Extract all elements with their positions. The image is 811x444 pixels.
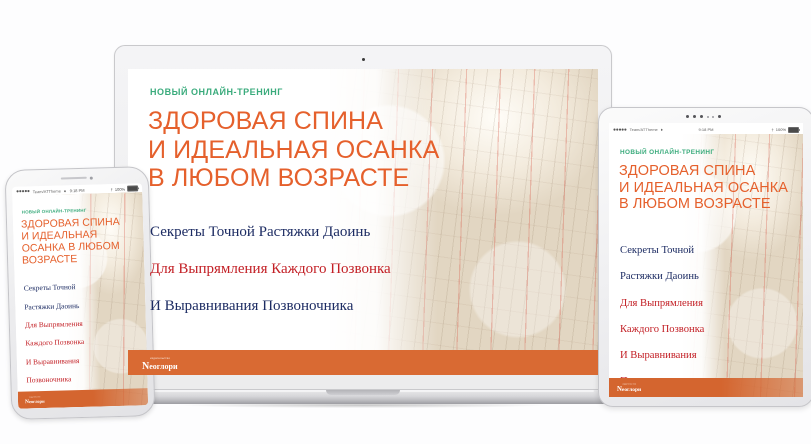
subtitle-line-5: И Выравнивания	[26, 355, 85, 366]
promo-headline-phone: ЗДОРОВАЯ СПИНА И ИДЕАЛЬНАЯ ОСАНКА В ЛЮБО…	[21, 217, 121, 268]
subtitle-line-4: Каждого Позвонка	[620, 323, 704, 336]
phone-camera-icon	[90, 176, 93, 179]
subtitle-line-6: Позвоночника	[26, 374, 85, 385]
tablet-speaker	[686, 115, 721, 118]
subtitle-line-2: Растяжки Даоинь	[620, 270, 704, 283]
status-time: 9:18 PM	[609, 127, 803, 132]
promo-headline-tablet: ЗДОРОВАЯ СПИНА И ИДЕАЛЬНАЯ ОСАНКА В ЛЮБО…	[619, 163, 788, 213]
logo-publisher-label: издательство	[150, 356, 170, 360]
laptop-mockup: НОВЫЙ ОНЛАЙН-ТРЕНИНГ ЗДОРОВАЯ СПИНА И ИД…	[108, 45, 618, 438]
neoglory-logo-tablet: издательство Nеоглори	[617, 383, 641, 394]
tablet-mockup: ●●●●● Team/ATTheme ♦ 9:18 PM † 100% НОВЫ…	[598, 107, 811, 407]
device-mockup-stage: НОВЫЙ ОНЛАЙН-ТРЕНИНГ ЗДОРОВАЯ СПИНА И ИД…	[0, 0, 811, 444]
subtitle-line-3: Для Выпрямления	[25, 319, 84, 330]
phone-speaker	[61, 177, 87, 180]
promo-eyebrow-laptop: НОВЫЙ ОНЛАЙН-ТРЕНИНГ	[150, 87, 283, 97]
laptop-screen: НОВЫЙ ОНЛАЙН-ТРЕНИНГ ЗДОРОВАЯ СПИНА И ИД…	[128, 69, 598, 375]
neoglory-logo-phone: издательство Nеоглори	[25, 396, 45, 405]
laptop-lid: НОВЫЙ ОНЛАЙН-ТРЕНИНГ ЗДОРОВАЯ СПИНА И ИД…	[114, 45, 612, 390]
laptop-base-notch	[326, 390, 400, 395]
subtitle-line-1: Секреты Точной	[24, 282, 83, 293]
promo-subtitle-tablet: Секреты Точной Растяжки Даоинь Для Выпря…	[620, 231, 704, 397]
subtitle-line-3: Для Выпрямления	[620, 297, 704, 310]
promo-footer-bar-laptop: издательство Nеоглори	[128, 350, 598, 375]
promo-footer-bar-phone: издательство Nеоглори	[18, 388, 148, 409]
subtitle-line-2: Растяжки Даоинь	[24, 300, 83, 311]
promo-page-laptop: НОВЫЙ ОНЛАЙН-ТРЕНИНГ ЗДОРОВАЯ СПИНА И ИД…	[128, 69, 598, 375]
battery-icon	[788, 127, 799, 133]
subtitle-line-1: Секреты Точной	[620, 244, 704, 257]
promo-headline-laptop: ЗДОРОВАЯ СПИНА И ИДЕАЛЬНАЯ ОСАНКА В ЛЮБО…	[148, 107, 439, 193]
phone-body: ●●●●● Team/ATTheme ♦ 9:18 PM † 100% НОВЫ…	[5, 166, 156, 420]
subtitle-line-2: Для Выпрямления Каждого Позвонка	[150, 260, 391, 279]
neoglory-logo-laptop: издательство Nеоглори	[142, 357, 178, 373]
logo-publisher-label: издательство	[29, 396, 40, 399]
laptop-base	[108, 390, 618, 404]
promo-subtitle-phone: Секреты Точной Растяжки Даоинь Для Выпря…	[23, 273, 85, 394]
subtitle-line-4: Каждого Позвонка	[25, 337, 84, 348]
subtitle-line-5: И Выравнивания	[620, 349, 704, 362]
promo-footer-bar-tablet: издательство Nеоглори	[609, 378, 803, 397]
phone-mockup: ●●●●● Team/ATTheme ♦ 9:18 PM † 100% НОВЫ…	[8, 168, 152, 418]
subtitle-line-1: Секреты Точной Растяжки Даоинь	[150, 223, 391, 242]
laptop-camera-icon	[362, 58, 365, 61]
promo-eyebrow-tablet: НОВЫЙ ОНЛАЙН-ТРЕНИНГ	[620, 149, 714, 156]
tablet-screen: ●●●●● Team/ATTheme ♦ 9:18 PM † 100% НОВЫ…	[609, 123, 803, 397]
tablet-status-bar: ●●●●● Team/ATTheme ♦ 9:18 PM † 100%	[609, 125, 803, 134]
promo-subtitle-laptop: Секреты Точной Растяжки Даоинь Для Выпря…	[150, 204, 391, 334]
logo-publisher-label: издательство	[622, 382, 636, 385]
battery-icon	[127, 185, 138, 191]
tablet-body: ●●●●● Team/ATTheme ♦ 9:18 PM † 100% НОВЫ…	[598, 107, 811, 407]
promo-page-tablet: НОВЫЙ ОНЛАЙН-ТРЕНИНГ ЗДОРОВАЯ СПИНА И ИД…	[609, 123, 803, 397]
subtitle-line-3: И Выравнивания Позвоночника	[150, 297, 391, 316]
